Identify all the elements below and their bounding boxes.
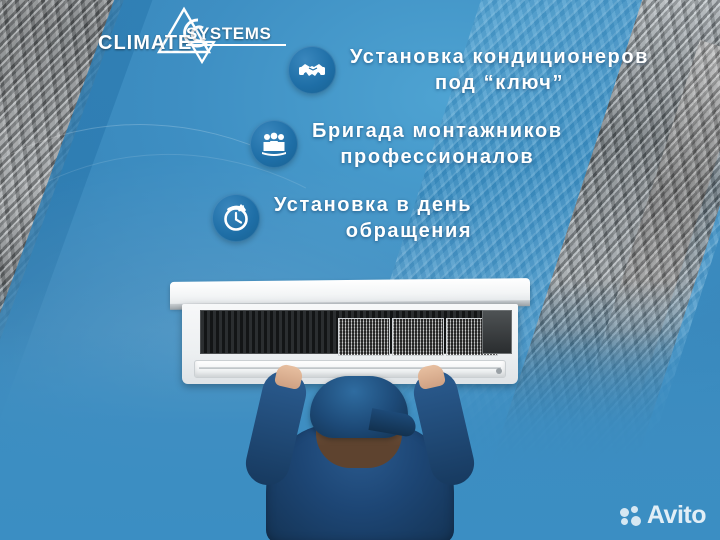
- feature-line-2: обращения: [274, 218, 472, 244]
- feature-list: Установка кондиционеров под “ключ” Брига…: [0, 44, 720, 244]
- feature-item-professional-team: Бригада монтажников профессионалов: [250, 118, 720, 170]
- poster-canvas: CLIMATE SYSTEMS Установка кондиционеров …: [0, 0, 720, 540]
- feature-line-2: профессионалов: [312, 144, 563, 170]
- technician-hand-left: [274, 363, 304, 390]
- feature-text: Бригада монтажников профессионалов: [312, 118, 563, 170]
- avito-watermark: Avito: [620, 503, 706, 528]
- logo-text-systems: SYSTEMS: [186, 24, 271, 44]
- feature-line-2: под “ключ”: [350, 70, 649, 96]
- ac-indicator-led: [496, 368, 502, 374]
- fast-clock-icon: [212, 194, 260, 242]
- feature-line-1: Бригада монтажников: [312, 120, 563, 142]
- avito-label: Avito: [647, 503, 706, 528]
- feature-item-same-day-installation: Установка в день обращения: [212, 192, 720, 244]
- technician-cap: [310, 376, 408, 438]
- feature-line-1: Установка в день: [274, 194, 472, 216]
- ac-filter-panel: [338, 318, 390, 356]
- ac-filter-panel: [392, 318, 444, 356]
- ac-side-module: [482, 310, 512, 354]
- handshake-icon: [288, 46, 336, 94]
- team-people-icon: [250, 120, 298, 168]
- avito-dots-icon: [620, 506, 642, 526]
- installation-scene: [0, 280, 720, 540]
- feature-text: Установка кондиционеров под “ключ”: [350, 44, 649, 96]
- technician-figure: [252, 366, 468, 540]
- feature-item-installation-turnkey: Установка кондиционеров под “ключ”: [288, 44, 720, 96]
- feature-line-1: Установка кондиционеров: [350, 46, 649, 68]
- feature-text: Установка в день обращения: [274, 192, 472, 244]
- technician-hand-right: [416, 363, 446, 390]
